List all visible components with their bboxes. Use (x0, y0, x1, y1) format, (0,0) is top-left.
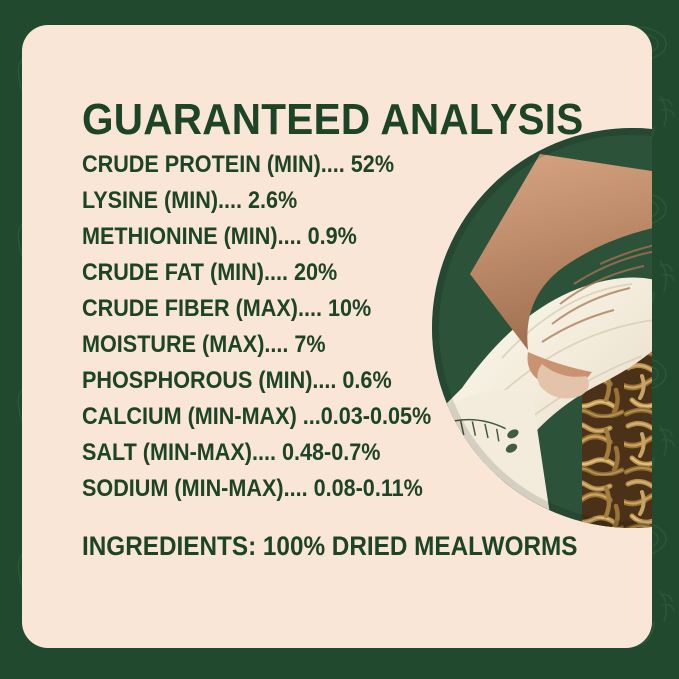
guaranteed-analysis-list: CRUDE PROTEIN (MIN).... 52% LYSINE (MIN)… (82, 147, 482, 507)
list-item: METHIONINE (MIN).... 0.9% (82, 219, 442, 255)
list-item: CRUDE FAT (MIN).... 20% (82, 255, 442, 291)
list-item: SALT (MIN-MAX).... 0.48-0.7% (82, 435, 442, 471)
list-item: SODIUM (MIN-MAX).... 0.08-0.11% (82, 471, 442, 507)
ingredients-line: INGREDIENTS: 100% DRIED MEALWORMS (82, 530, 578, 562)
list-item: MOISTURE (MAX).... 7% (82, 327, 442, 363)
list-item: LYSINE (MIN).... 2.6% (82, 183, 442, 219)
infographic-root: GUARANTEED ANALYSIS CRUDE PROTEIN (MIN).… (0, 0, 679, 679)
page-title: GUARANTEED ANALYSIS (82, 98, 584, 142)
list-item: PHOSPHOROUS (MIN).... 0.6% (82, 363, 442, 399)
analysis-card: GUARANTEED ANALYSIS CRUDE PROTEIN (MIN).… (22, 25, 652, 648)
list-item: CRUDE FIBER (MAX).... 10% (82, 291, 442, 327)
list-item: CALCIUM (MIN-MAX) ...0.03-0.05% (82, 399, 442, 435)
list-item: CRUDE PROTEIN (MIN).... 52% (82, 147, 442, 183)
